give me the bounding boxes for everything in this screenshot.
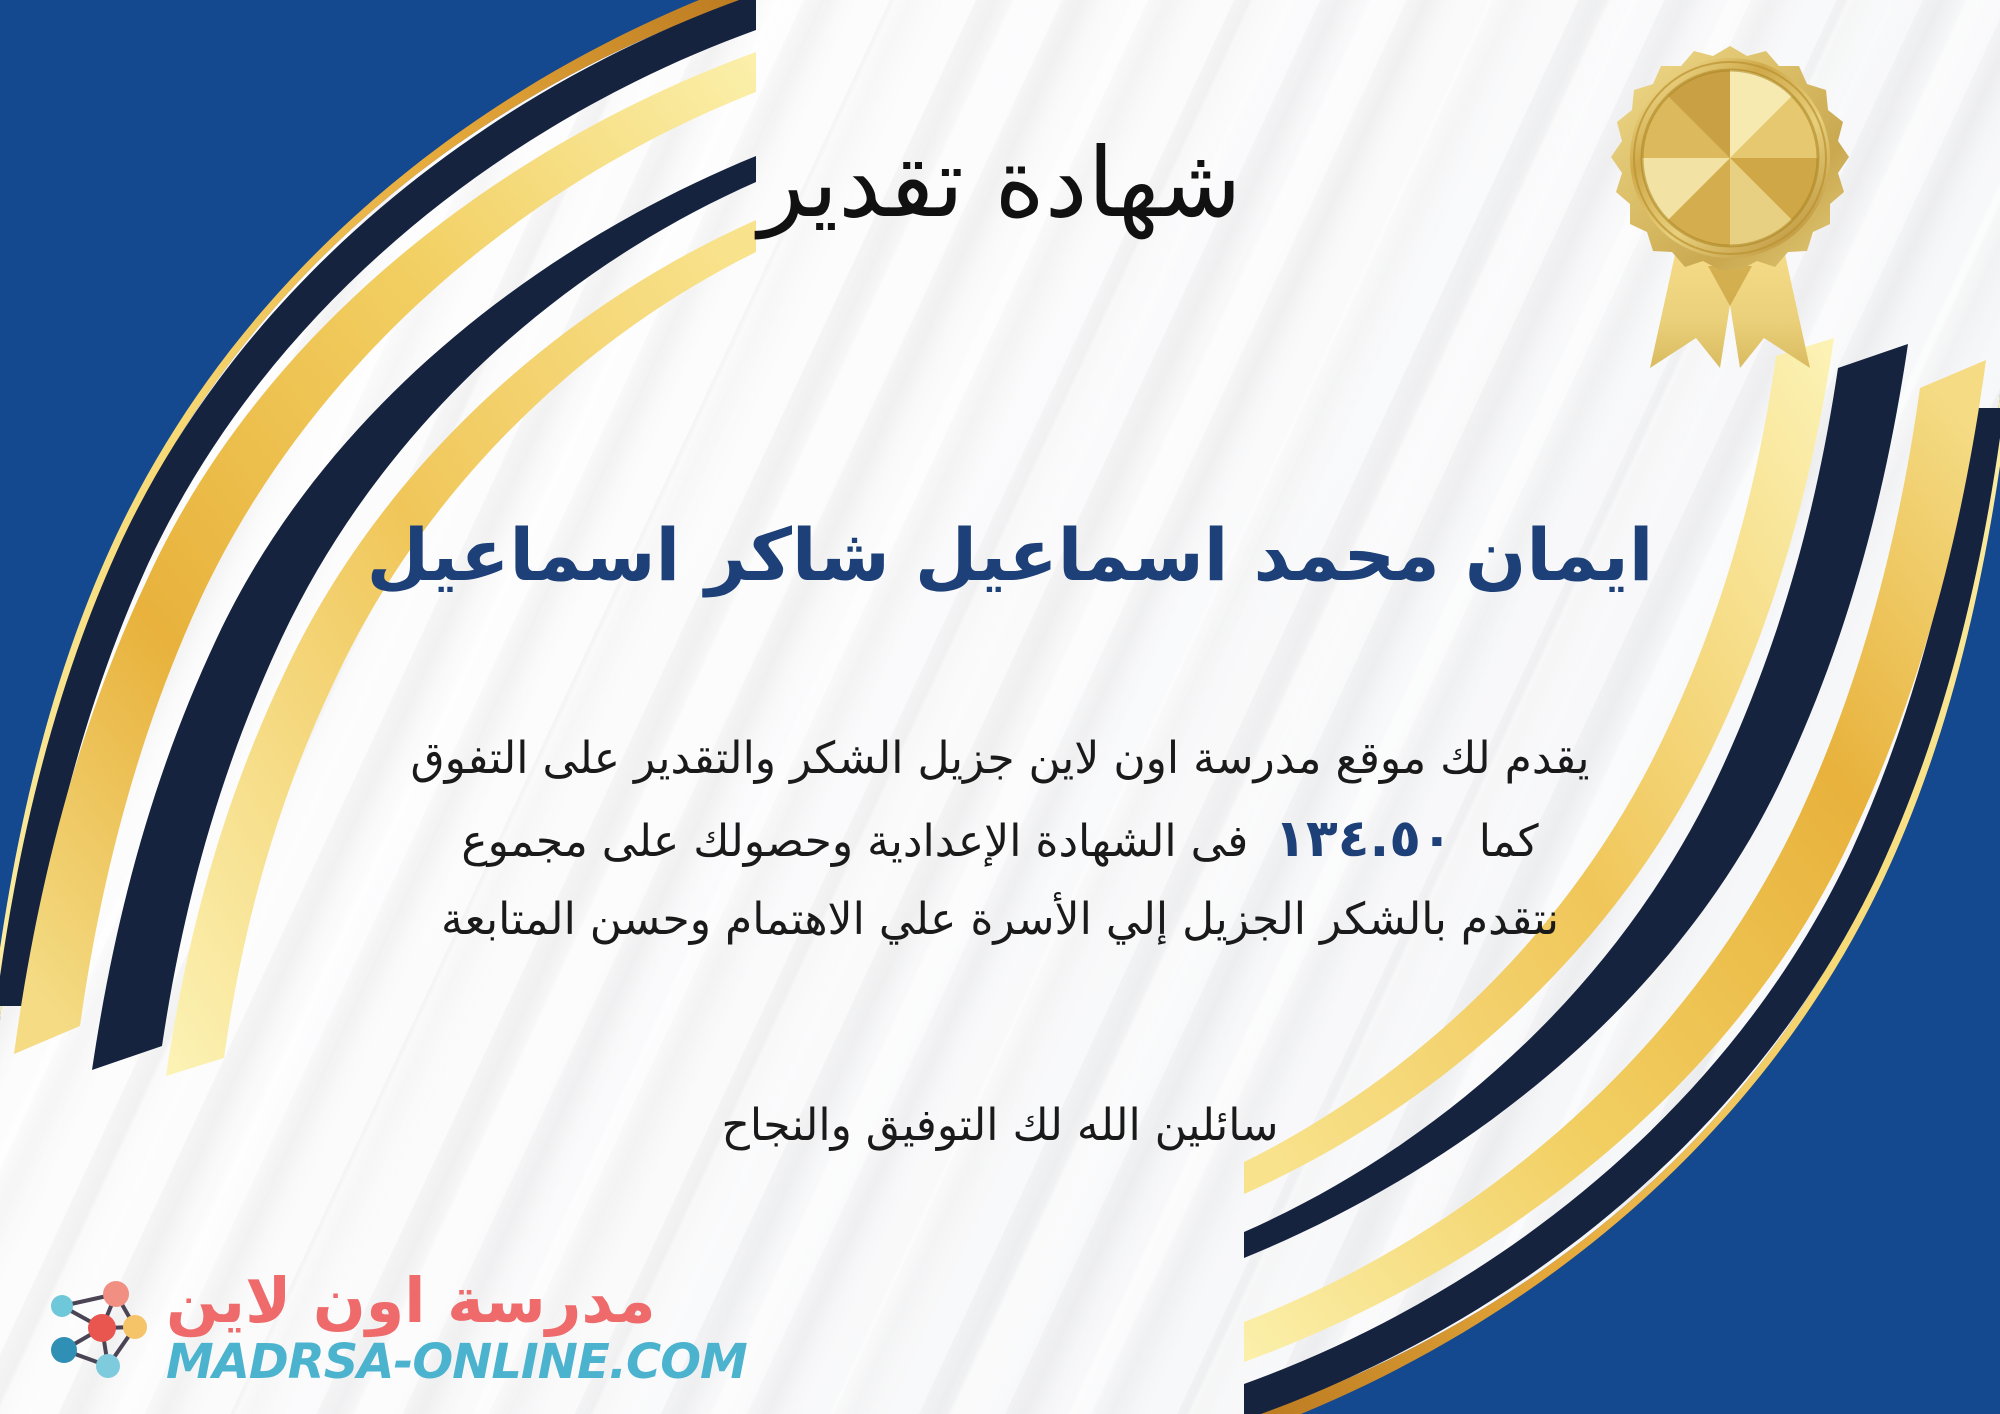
body-line-2-suffix: كما	[1479, 816, 1539, 867]
total-score-value: ١٣٤.٥٠	[1248, 809, 1478, 869]
certificate-title: شهادة تقدير	[0, 128, 2000, 238]
site-logo[interactable]: مدرسة اون لاين MADRSA-ONLINE.COM	[38, 1270, 747, 1386]
brand-wordmark: مدرسة اون لاين MADRSA-ONLINE.COM	[166, 1270, 747, 1386]
certificate-page: شهادة تقدير ايمان محمد اسماعيل شاكر اسما…	[0, 0, 2000, 1414]
body-line-2-prefix: فى الشهادة الإعدادية وحصولك على مجموع	[461, 816, 1248, 867]
network-nodes-icon	[38, 1272, 150, 1384]
brand-name-arabic: مدرسة اون لاين	[166, 1270, 656, 1332]
brand-website-url[interactable]: MADRSA-ONLINE.COM	[166, 1338, 747, 1386]
certificate-body: يقدم لك موقع مدرسة اون لاين جزيل الشكر و…	[60, 722, 1940, 957]
body-line-1: يقدم لك موقع مدرسة اون لاين جزيل الشكر و…	[60, 722, 1940, 796]
body-line-2: كما١٣٤.٥٠فى الشهادة الإعدادية وحصولك على…	[60, 796, 1940, 883]
student-name: ايمان محمد اسماعيل شاكر اسماعيل	[150, 510, 1870, 600]
closing-wish: سائلين الله لك التوفيق والنجاح	[60, 1100, 1940, 1151]
body-line-3: نتقدم بالشكر الجزيل إلي الأسرة علي الاهت…	[60, 883, 1940, 957]
